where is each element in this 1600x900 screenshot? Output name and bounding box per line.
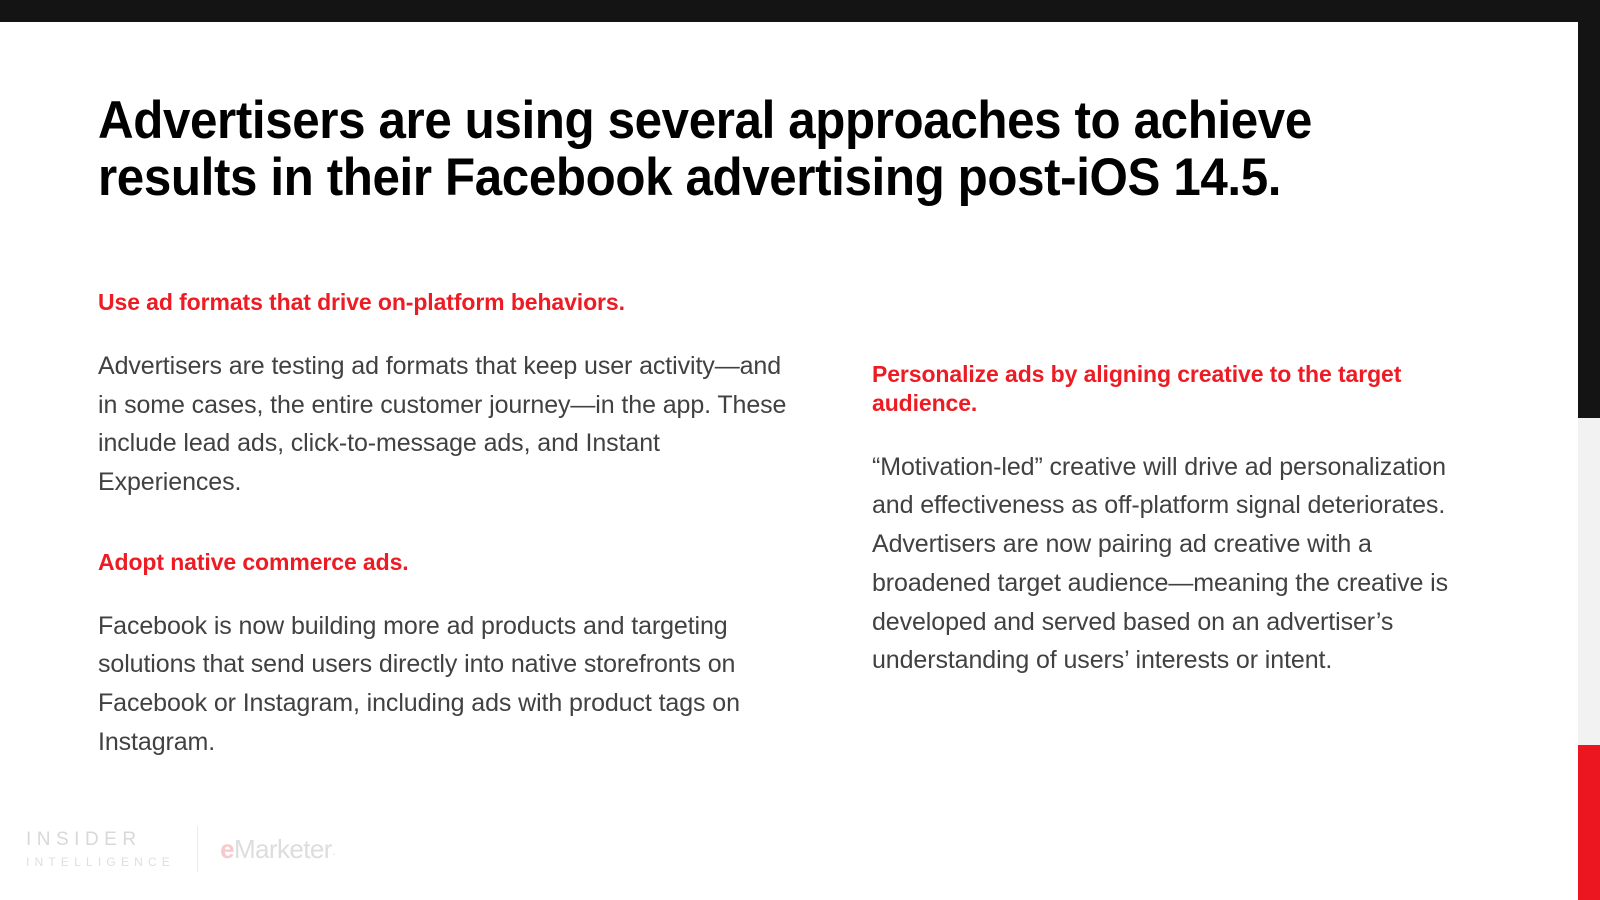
intelligence-wordmark: INTELLIGENCE [26,856,175,868]
section-body-ad-formats: Advertisers are testing ad formats that … [98,347,798,502]
insider-wordmark: INSIDER [26,830,142,849]
section-body-personalize-ads: “Motivation-led” creative will drive ad … [872,448,1472,681]
emarketer-trademark-dot: · [332,845,336,861]
emarketer-logo: eMarketer· [220,834,336,865]
section-heading-personalize-ads: Personalize ads by aligning creative to … [872,360,1472,418]
section-body-native-commerce: Facebook is now building more ad product… [98,607,798,762]
section-native-commerce: Adopt native commerce ads. Facebook is n… [98,548,798,762]
insider-intelligence-logo: INSIDER INTELLIGENCE [26,830,175,868]
right-column: Personalize ads by aligning creative to … [872,360,1472,680]
section-heading-native-commerce: Adopt native commerce ads. [98,548,798,577]
section-personalize-ads: Personalize ads by aligning creative to … [872,360,1472,680]
footer-logos: INSIDER INTELLIGENCE eMarketer· [26,826,336,872]
slide-canvas: Advertisers are using several approaches… [0,0,1600,900]
emarketer-e-glyph: e [220,834,234,864]
section-heading-ad-formats: Use ad formats that drive on-platform be… [98,288,798,317]
logo-divider [197,826,198,872]
section-ad-formats: Use ad formats that drive on-platform be… [98,288,798,502]
left-column: Use ad formats that drive on-platform be… [98,288,798,762]
emarketer-wordmark: Marketer [234,834,332,864]
content-columns: Use ad formats that drive on-platform be… [0,0,1600,900]
